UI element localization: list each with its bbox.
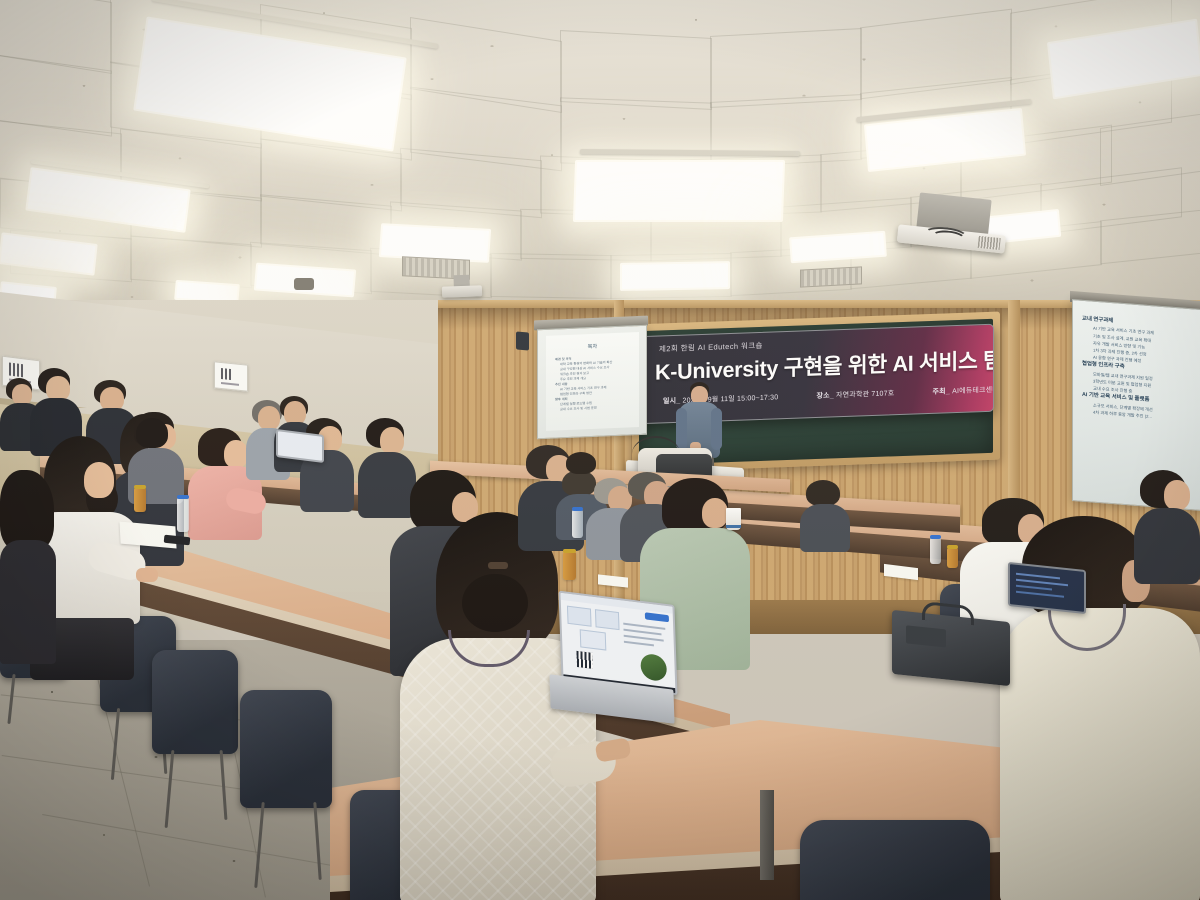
lecture-hall-photo: 제2회 한림 AI Edutech 워크숍 K-University 구현을 위… bbox=[0, 0, 1200, 900]
wall-speaker bbox=[516, 331, 529, 350]
attendee bbox=[800, 480, 850, 546]
torso bbox=[1134, 508, 1200, 584]
diagram-block bbox=[567, 606, 592, 627]
chair bbox=[240, 690, 332, 808]
text-line bbox=[1016, 585, 1052, 591]
speaker-arm bbox=[711, 408, 722, 450]
laptop-display[interactable] bbox=[276, 429, 324, 463]
text-line bbox=[1016, 591, 1064, 598]
laptop-foreground[interactable] bbox=[542, 598, 672, 726]
paper-cup bbox=[726, 508, 741, 530]
ceiling-light bbox=[573, 160, 785, 222]
torso bbox=[1000, 608, 1200, 900]
water-bottle bbox=[572, 510, 583, 538]
ceiling bbox=[0, 0, 1200, 330]
hair-bun bbox=[462, 574, 528, 632]
water-bottle bbox=[177, 498, 189, 532]
banner-meta-host: 주최_ AI에듀테크센터 bbox=[933, 386, 994, 396]
laptop-right[interactable] bbox=[1008, 566, 1086, 618]
sign-logo-icon bbox=[9, 363, 23, 378]
sign-logo-icon bbox=[221, 368, 233, 380]
text-line bbox=[623, 629, 661, 636]
chair-back bbox=[152, 650, 238, 754]
ceiling-light bbox=[379, 223, 491, 263]
bottle-cap bbox=[177, 495, 189, 499]
laptop-display[interactable] bbox=[1008, 562, 1086, 614]
speaker-arm bbox=[676, 408, 687, 450]
hand bbox=[136, 568, 158, 582]
thumbnail-image bbox=[640, 653, 667, 682]
qr-block bbox=[576, 651, 593, 669]
laptop-bag bbox=[892, 610, 1010, 686]
hair bbox=[0, 470, 54, 550]
ceiling-light bbox=[620, 261, 730, 291]
ceiling-projector bbox=[442, 282, 483, 299]
head bbox=[12, 384, 32, 405]
chair bbox=[800, 820, 990, 900]
text-line bbox=[624, 641, 654, 647]
primary-action-button[interactable] bbox=[645, 612, 669, 622]
bag-pocket bbox=[906, 625, 946, 647]
projector-vent bbox=[978, 236, 1001, 250]
chair-back bbox=[240, 690, 332, 808]
chair bbox=[152, 650, 238, 754]
torso bbox=[800, 504, 850, 552]
head bbox=[224, 440, 248, 468]
head bbox=[702, 498, 728, 528]
bottle-cap bbox=[947, 545, 958, 549]
text-line bbox=[1016, 573, 1060, 580]
slide-content-left: 목차 배경 및 목적 대학 교육 환경의 변화와 AI 기술의 확산 교내 구성… bbox=[546, 332, 639, 431]
bottle-cap bbox=[930, 535, 941, 539]
attendee bbox=[0, 470, 58, 660]
chair-back bbox=[800, 820, 990, 900]
slide-content-right: 교내 연구과제 AI 기반 교육 서비스 기초 연구 과제 기초 및 조사 설계… bbox=[1082, 315, 1200, 492]
drink-bottle bbox=[134, 488, 146, 512]
hair bbox=[566, 452, 596, 474]
hair-clip bbox=[488, 562, 508, 569]
ceiling-air-vent bbox=[800, 266, 862, 287]
hair bbox=[136, 418, 168, 448]
notice-sign-right bbox=[214, 361, 248, 392]
torso bbox=[0, 540, 56, 664]
attendee bbox=[1134, 470, 1200, 578]
desk-leg bbox=[760, 790, 774, 880]
bottle-cap bbox=[572, 507, 583, 511]
diagram-block bbox=[580, 629, 607, 650]
bottle-cap bbox=[134, 485, 146, 489]
head bbox=[84, 462, 114, 498]
slide-bullets: 배경 및 목적 대학 교육 환경의 변화와 AI 기술의 확산 교내 구성원 대… bbox=[555, 354, 633, 412]
projector-body bbox=[442, 285, 482, 297]
banner-meta-place: 장소_ 자연과학관 7107호 bbox=[817, 390, 913, 400]
hair bbox=[806, 480, 840, 506]
water-bottle bbox=[930, 538, 941, 564]
laptop-left-far[interactable] bbox=[276, 432, 322, 464]
projection-screen-left: 목차 배경 및 목적 대학 교육 환경의 변화와 AI 기술의 확산 교내 구성… bbox=[537, 325, 647, 440]
bottle-cap bbox=[563, 549, 576, 553]
attendee bbox=[562, 452, 604, 494]
drink-bottle bbox=[563, 552, 576, 580]
slide-title: 목차 bbox=[546, 341, 639, 352]
head bbox=[1164, 480, 1190, 510]
ceiling-speaker bbox=[294, 278, 314, 290]
diagram-block bbox=[595, 609, 620, 630]
cup-band bbox=[726, 525, 741, 528]
head bbox=[380, 427, 404, 454]
drink-bottle bbox=[947, 548, 958, 568]
attendee bbox=[132, 418, 176, 482]
